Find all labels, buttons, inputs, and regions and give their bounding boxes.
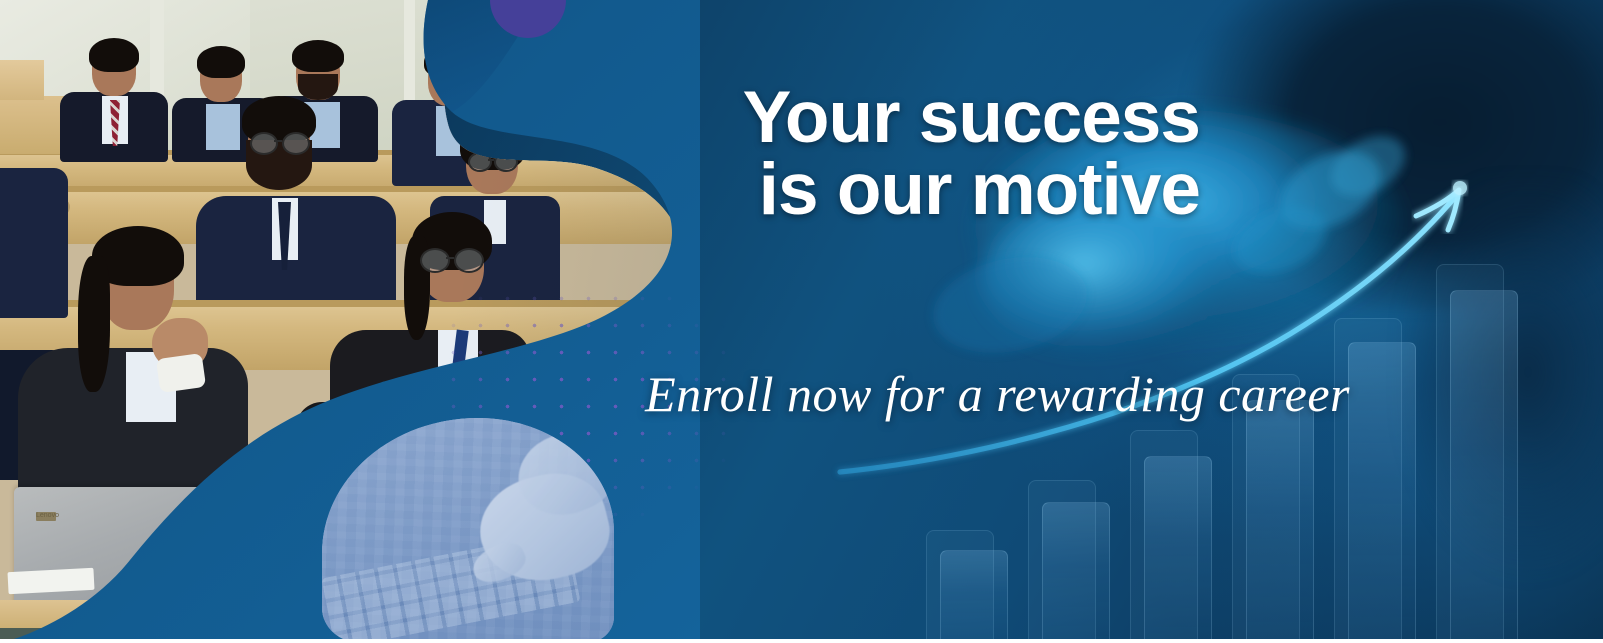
chart-bar xyxy=(1246,400,1314,643)
tagline: Enroll now for a rewarding career xyxy=(420,365,1350,423)
hero-banner: Lenovo xyxy=(0,0,1603,643)
headline-line-1: Your success xyxy=(743,77,1200,158)
keyboard-typing-blob xyxy=(322,418,614,643)
headline-line-2: is our motive xyxy=(600,154,1200,226)
keyboard-blue-tint xyxy=(322,418,614,643)
chart-bar xyxy=(1348,342,1416,643)
bottom-trim xyxy=(0,639,1603,643)
chart-bar xyxy=(940,550,1008,643)
page-title: Your success is our motive xyxy=(600,82,1200,226)
chart-bar xyxy=(1042,502,1110,643)
chart-bar xyxy=(1144,456,1212,643)
chart-bar xyxy=(1450,290,1518,643)
